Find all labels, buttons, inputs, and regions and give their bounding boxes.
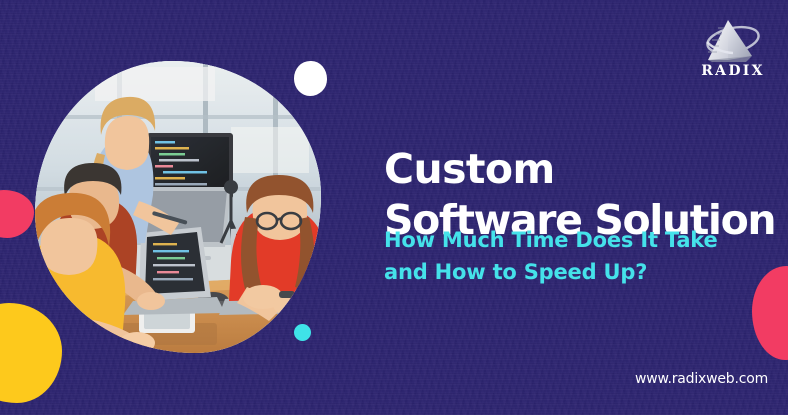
page-subtitle: How Much Time Does It Take and How to Sp…: [384, 224, 784, 288]
headline-line-1: Custom: [384, 145, 555, 193]
team-photo-illustration: [35, 61, 321, 353]
radix-logo-text: RADIX: [694, 63, 772, 79]
subhead-line-1: How Much Time Does It Take: [384, 224, 784, 256]
pyramid-icon: [694, 16, 772, 64]
marketing-banner: RADIX Custom Software Solution How Much …: [0, 0, 788, 415]
radix-logo[interactable]: RADIX: [694, 16, 772, 82]
team-photo: [35, 61, 321, 353]
website-url[interactable]: www.radixweb.com: [635, 371, 768, 387]
decorative-blob-pink-left: [0, 190, 34, 238]
subhead-line-2: and How to Speed Up?: [384, 256, 784, 288]
